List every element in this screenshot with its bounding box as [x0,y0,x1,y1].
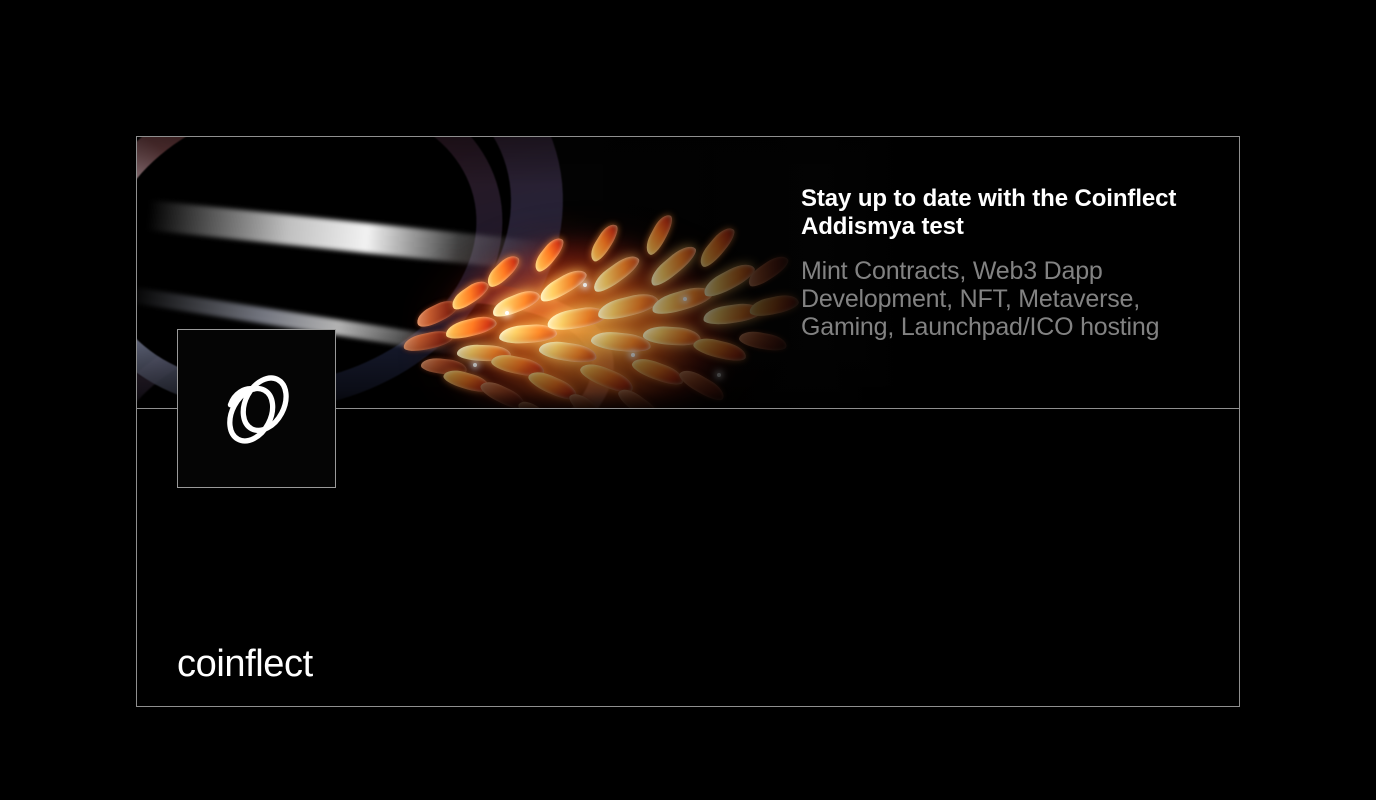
company-name: coinflect [177,642,313,686]
banner-headline: Stay up to date with the Coinflect Addis… [801,185,1201,241]
banner-subtext: Mint Contracts, Web3 Dapp Development, N… [801,257,1201,341]
page-root: Stay up to date with the Coinflect Addis… [0,0,1376,800]
coin-stack-icon [209,361,305,457]
company-profile-card: Stay up to date with the Coinflect Addis… [136,136,1240,707]
company-profile-body: coinflect We are a Defi Blockchain. Bloc… [137,410,1239,706]
company-logo[interactable] [177,329,336,488]
banner-copy: Stay up to date with the Coinflect Addis… [801,185,1201,341]
